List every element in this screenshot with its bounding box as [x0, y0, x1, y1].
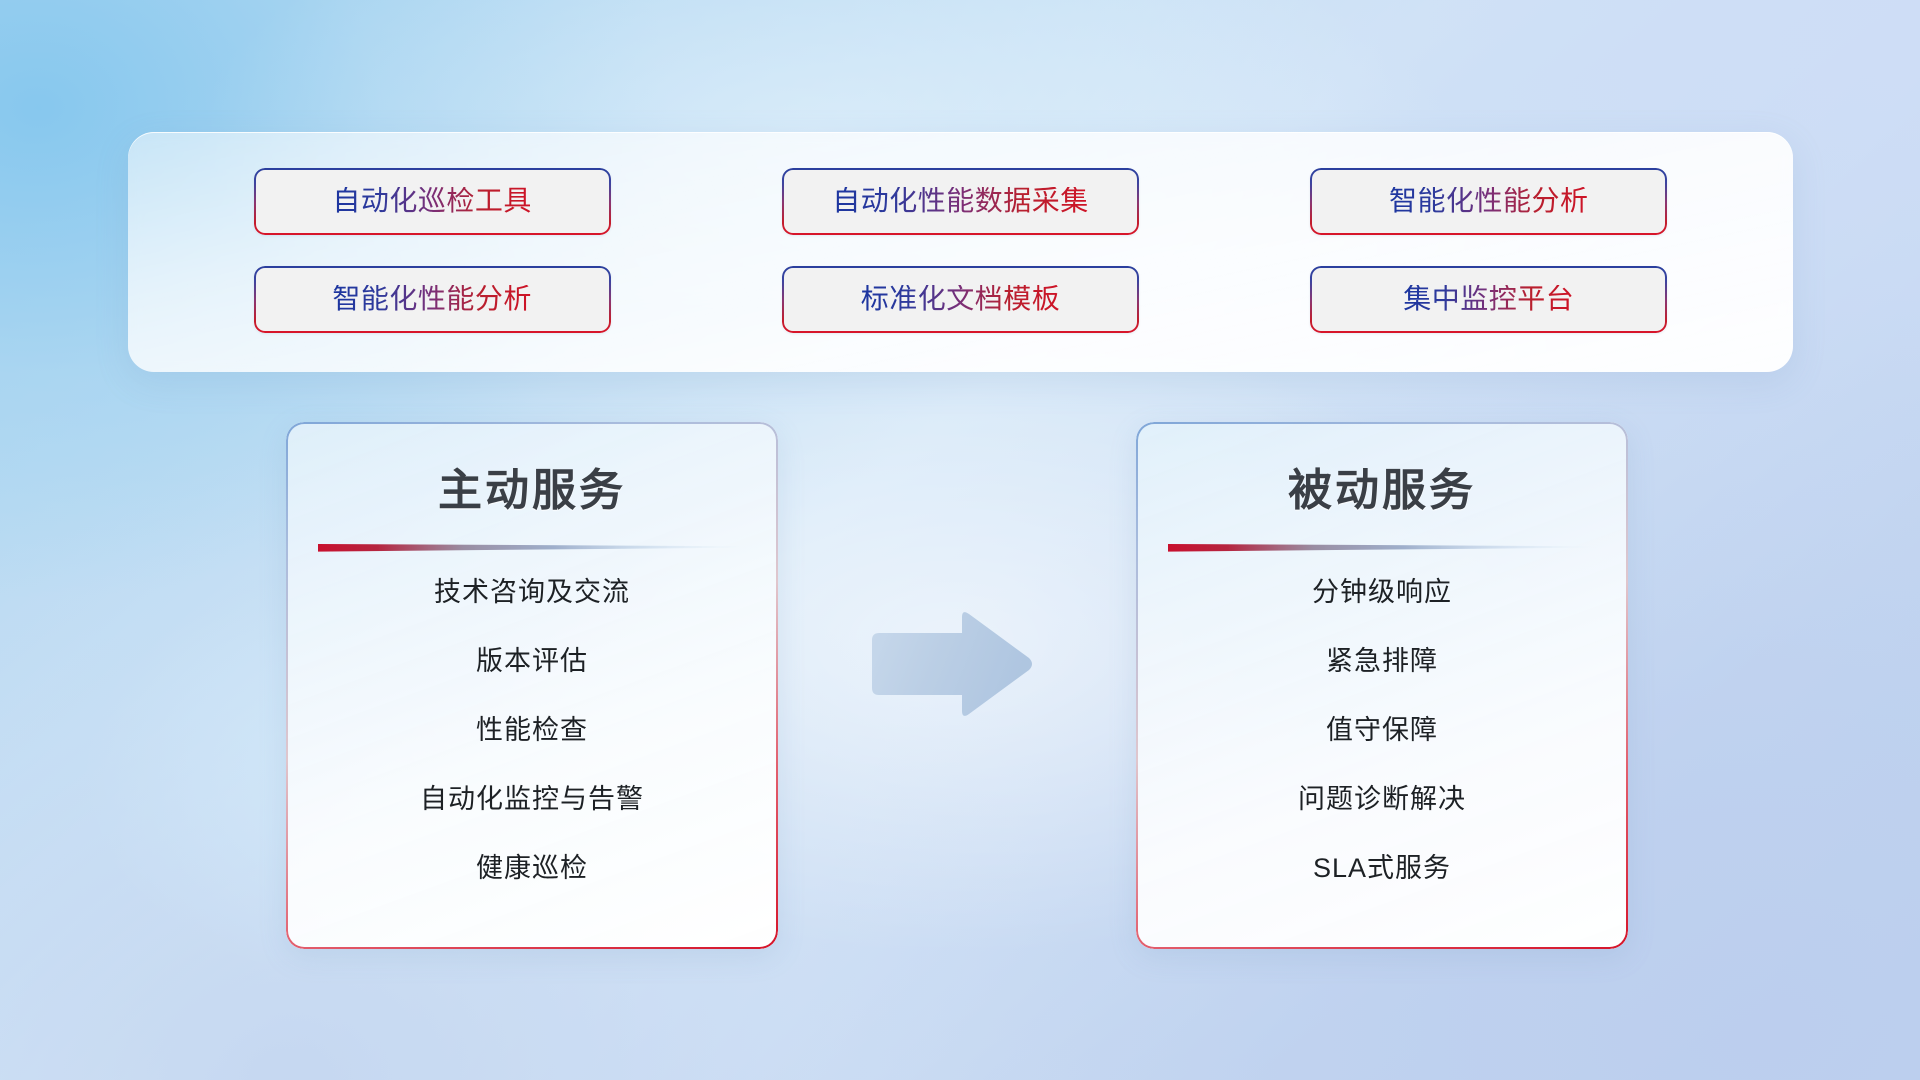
capability-pill-6[interactable]: 集中监控平台: [1310, 266, 1667, 333]
capability-pill-1[interactable]: 自动化巡检工具: [254, 168, 611, 235]
capability-pill-4[interactable]: 智能化性能分析: [254, 266, 611, 333]
arrow-right-icon: [866, 608, 1034, 720]
capability-pill-3[interactable]: 智能化性能分析: [1310, 168, 1667, 235]
capability-pill-label: 集中监控平台: [1403, 285, 1574, 313]
title-divider: [318, 542, 746, 553]
title-divider: [1168, 542, 1596, 553]
capability-pill-label: 智能化性能分析: [332, 285, 532, 313]
capability-pill-label: 智能化性能分析: [1389, 187, 1589, 215]
service-list-item: 健康巡检: [286, 855, 778, 882]
capability-pill-5[interactable]: 标准化文档模板: [782, 266, 1139, 333]
service-list-item: 技术咨询及交流: [286, 579, 778, 606]
service-list-item: 自动化监控与告警: [286, 786, 778, 813]
card-title: 被动服务: [1136, 454, 1628, 518]
service-list-item: 版本评估: [286, 648, 778, 675]
capability-grid: 自动化巡检工具 自动化性能数据采集 智能化性能分析 智能化性能分析 标准化文档模…: [128, 132, 1793, 372]
service-list-item: 值守保障: [1136, 717, 1628, 744]
capability-banner-panel: 自动化巡检工具 自动化性能数据采集 智能化性能分析 智能化性能分析 标准化文档模…: [128, 132, 1793, 372]
service-list-item: 分钟级响应: [1136, 579, 1628, 606]
service-list-item: SLA式服务: [1136, 855, 1628, 882]
capability-pill-label: 自动化性能数据采集: [832, 187, 1089, 215]
card-title: 主动服务: [286, 454, 778, 518]
service-card-proactive: 主动服务 技术咨询及交流 版本评估 性能检查 自动化监控与告警 健康巡检: [286, 422, 778, 949]
capability-pill-2[interactable]: 自动化性能数据采集: [782, 168, 1139, 235]
capability-pill-label: 标准化文档模板: [861, 285, 1061, 313]
service-list-item: 性能检查: [286, 717, 778, 744]
service-item-list: 分钟级响应 紧急排障 值守保障 问题诊断解决 SLA式服务: [1136, 579, 1628, 882]
service-item-list: 技术咨询及交流 版本评估 性能检查 自动化监控与告警 健康巡检: [286, 579, 778, 882]
capability-pill-label: 自动化巡检工具: [332, 187, 532, 215]
service-list-item: 紧急排障: [1136, 648, 1628, 675]
service-card-reactive: 被动服务 分钟级响应 紧急排障 值守保障 问题诊断解决 SLA式服务: [1136, 422, 1628, 949]
service-list-item: 问题诊断解决: [1136, 786, 1628, 813]
